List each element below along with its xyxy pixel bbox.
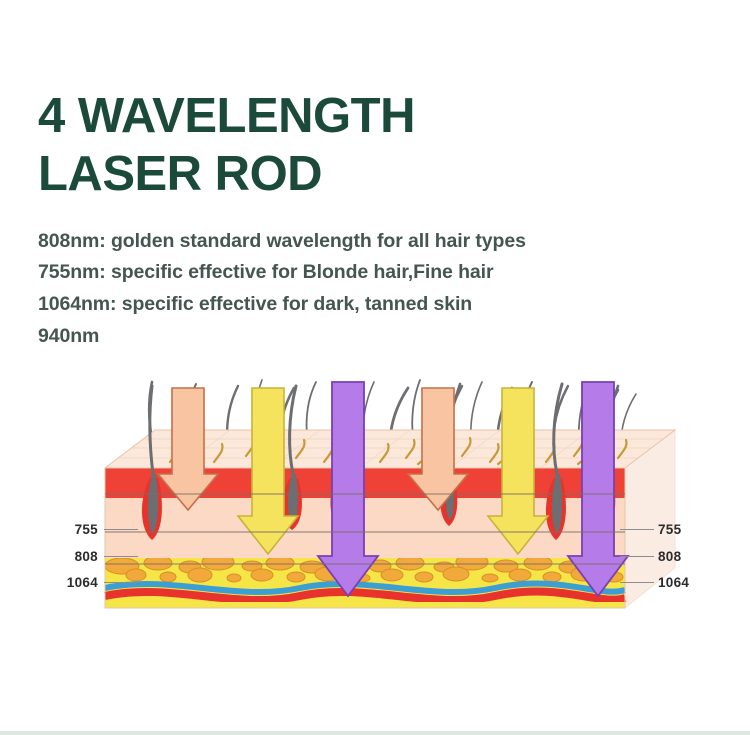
header-block: 4 WAVELENGTH LASER ROD 808nm: golden sta… [38, 88, 638, 353]
depth-label-755-right: 755 [658, 522, 708, 537]
leader-line-808-left [104, 556, 138, 557]
list-item: 808nm: golden standard wavelength for al… [38, 226, 638, 258]
leader-line-808-right [620, 556, 654, 557]
list-item: 1064nm: specific effective for dark, tan… [38, 289, 638, 321]
leader-line-1064-right [620, 582, 654, 583]
depth-label-808-right: 808 [658, 549, 708, 564]
leader-line-755-right [620, 529, 654, 530]
page-title: 4 WAVELENGTH LASER ROD [38, 88, 638, 204]
leader-line-755-left [104, 529, 138, 530]
depth-label-1064-left: 1064 [48, 575, 98, 590]
depth-label-1064-right: 1064 [658, 575, 708, 590]
skin-penetration-depth-diagram [0, 370, 750, 650]
list-item: 940nm [38, 321, 638, 353]
wavelength-description-list: 808nm: golden standard wavelength for al… [38, 226, 638, 353]
leader-line-1064-left [104, 582, 138, 583]
depth-label-755-left: 755 [58, 522, 98, 537]
list-item: 755nm: specific effective for Blonde hai… [38, 257, 638, 289]
bottom-accent-strip [0, 731, 750, 735]
depth-label-808-left: 808 [58, 549, 98, 564]
